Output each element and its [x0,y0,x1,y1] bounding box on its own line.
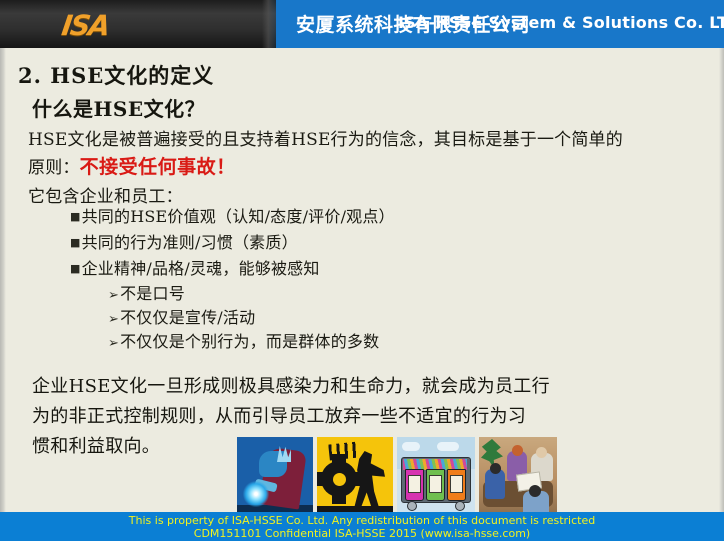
sub-list-item: ➢不仅仅是宣传/活动 [108,304,255,328]
recycling-bin-green [426,469,445,501]
sub-list-item: ➢不仅仅是个别行为，而是群体的多数 [108,328,379,352]
welder-head [259,451,287,477]
footer-copyright-line: This is property of ISA-HSSE Co. Ltd. An… [0,514,724,527]
closing-line-3: 惯和利益取向。 [32,432,160,458]
company-name-en: ISA-HSSE System & Solutions Co. LTD [398,13,724,32]
sub-list-item-label: 不仅仅是个别行为，而是群体的多数 [120,332,379,351]
slide-left-edge [0,48,6,512]
cloud-shape [402,442,420,451]
sub-list-item: ➢不是口号 [108,280,185,304]
recycling-bin-orange [447,469,466,501]
principle-label: 原则： [28,158,80,178]
list-item-label: 企业精神/品格/灵魂，能够被感知 [82,259,320,278]
square-bullet-icon: ■ [70,262,81,275]
page-subtitle: 什么是HSE文化？ [32,93,205,122]
definition-line-2: 原则：不接受任何事故！ [28,152,236,179]
cloud-shape [437,442,459,451]
square-bullet-icon: ■ [70,210,81,223]
list-item-label: 共同的行为准则/习惯（素质） [82,233,298,252]
list-item: ■共同的行为准则/习惯（素质） [70,229,298,253]
sub-list-item-label: 不是口号 [120,284,185,303]
bin-label [450,475,463,493]
recycling-bins-photo [397,437,475,515]
bin-label [408,475,421,493]
person-head [536,447,547,458]
slide-header: ISA 安厦系统科技有限责任公司 ISA-HSSE System & Solut… [0,0,724,48]
meeting-photo [479,437,557,515]
page-title: 2. HSE文化的定义 [18,60,214,90]
welding-spark [243,481,269,507]
bin-label [429,475,442,493]
person-head [490,463,501,474]
footer-document-line: CDM151101 Confidential ISA-HSSE 2015 (ww… [0,527,724,540]
sub-list-item-label: 不仅仅是宣传/活动 [120,308,255,327]
arrow-bullet-icon: ➢ [108,336,119,351]
list-item: ■共同的HSE价值观（认知/态度/评价/观点） [70,203,395,227]
bin-wheel [455,501,465,511]
gear-hub [333,473,346,486]
recycling-bin-magenta [405,469,424,501]
list-item: ■企业精神/品格/灵魂，能够被感知 [70,255,320,279]
slide-right-edge [719,48,724,512]
person-head [529,485,541,497]
isa-logo: ISA [60,9,111,42]
bin-wheel [407,501,417,511]
closing-line-2: 为的非正式控制规则，从而引导员工放弃一些不适宜的行为习 [32,402,526,428]
slide-canvas: ISA 安厦系统科技有限责任公司 ISA-HSSE System & Solut… [0,0,724,541]
person-head [512,445,523,456]
square-bullet-icon: ■ [70,236,81,249]
gear-worker-photo [317,437,393,515]
arrow-bullet-icon: ➢ [108,312,119,327]
welder-photo [237,437,313,515]
slide-footer: This is property of ISA-HSSE Co. Ltd. An… [0,512,724,541]
list-item-label: 共同的HSE价值观（认知/态度/评价/观点） [82,207,395,226]
logo-panel: ISA [0,0,276,48]
arrow-bullet-icon: ➢ [108,288,119,303]
closing-line-1: 企业HSE文化一旦形成则极具感染力和生命力，就会成为员工行 [32,372,550,398]
definition-line-1: HSE文化是被普遍接受的且支持着HSE行为的信念，其目标是基于一个简单的 [28,125,623,150]
zero-accident-emphasis: 不接受任何事故！ [80,156,236,178]
